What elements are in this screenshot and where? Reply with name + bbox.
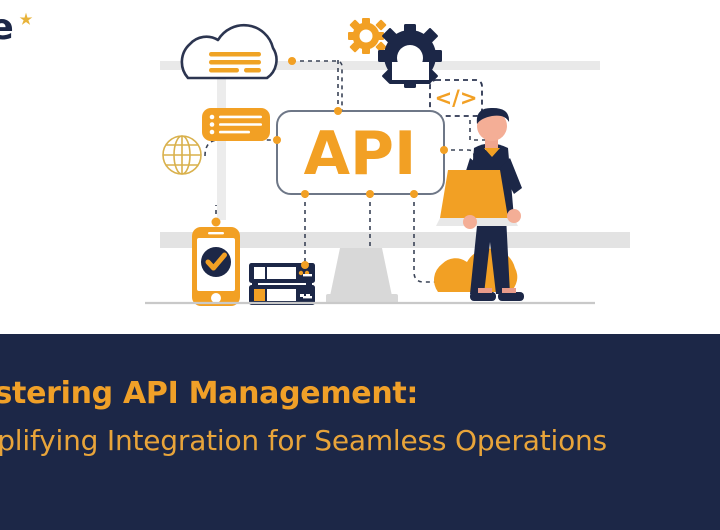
server-rack-icon xyxy=(249,261,315,305)
code-brackets-icon: </> xyxy=(430,80,482,116)
cloud-icon xyxy=(182,25,277,78)
illustration-svg: </> API xyxy=(0,0,720,334)
server-card-icon xyxy=(202,108,270,141)
svg-text:</>: </> xyxy=(435,86,478,110)
title-line-2: Simplifying Integration for Seamless Ope… xyxy=(0,420,720,462)
gear-small-icon xyxy=(348,18,387,54)
title-line-1: Mastering API Management: xyxy=(0,374,720,414)
monitor-icon xyxy=(326,248,398,304)
smartphone-icon xyxy=(192,218,240,307)
title-block: Mastering API Management: Simplifying In… xyxy=(0,374,720,462)
api-box: API xyxy=(277,111,444,194)
globe-icon xyxy=(163,136,201,174)
gear-large-icon xyxy=(378,24,442,88)
hero-illustration: </> API xyxy=(0,0,720,334)
poster-canvas: le xyxy=(0,0,720,530)
api-box-label: API xyxy=(304,119,417,189)
title-banner: Mastering API Management: Simplifying In… xyxy=(0,334,720,530)
